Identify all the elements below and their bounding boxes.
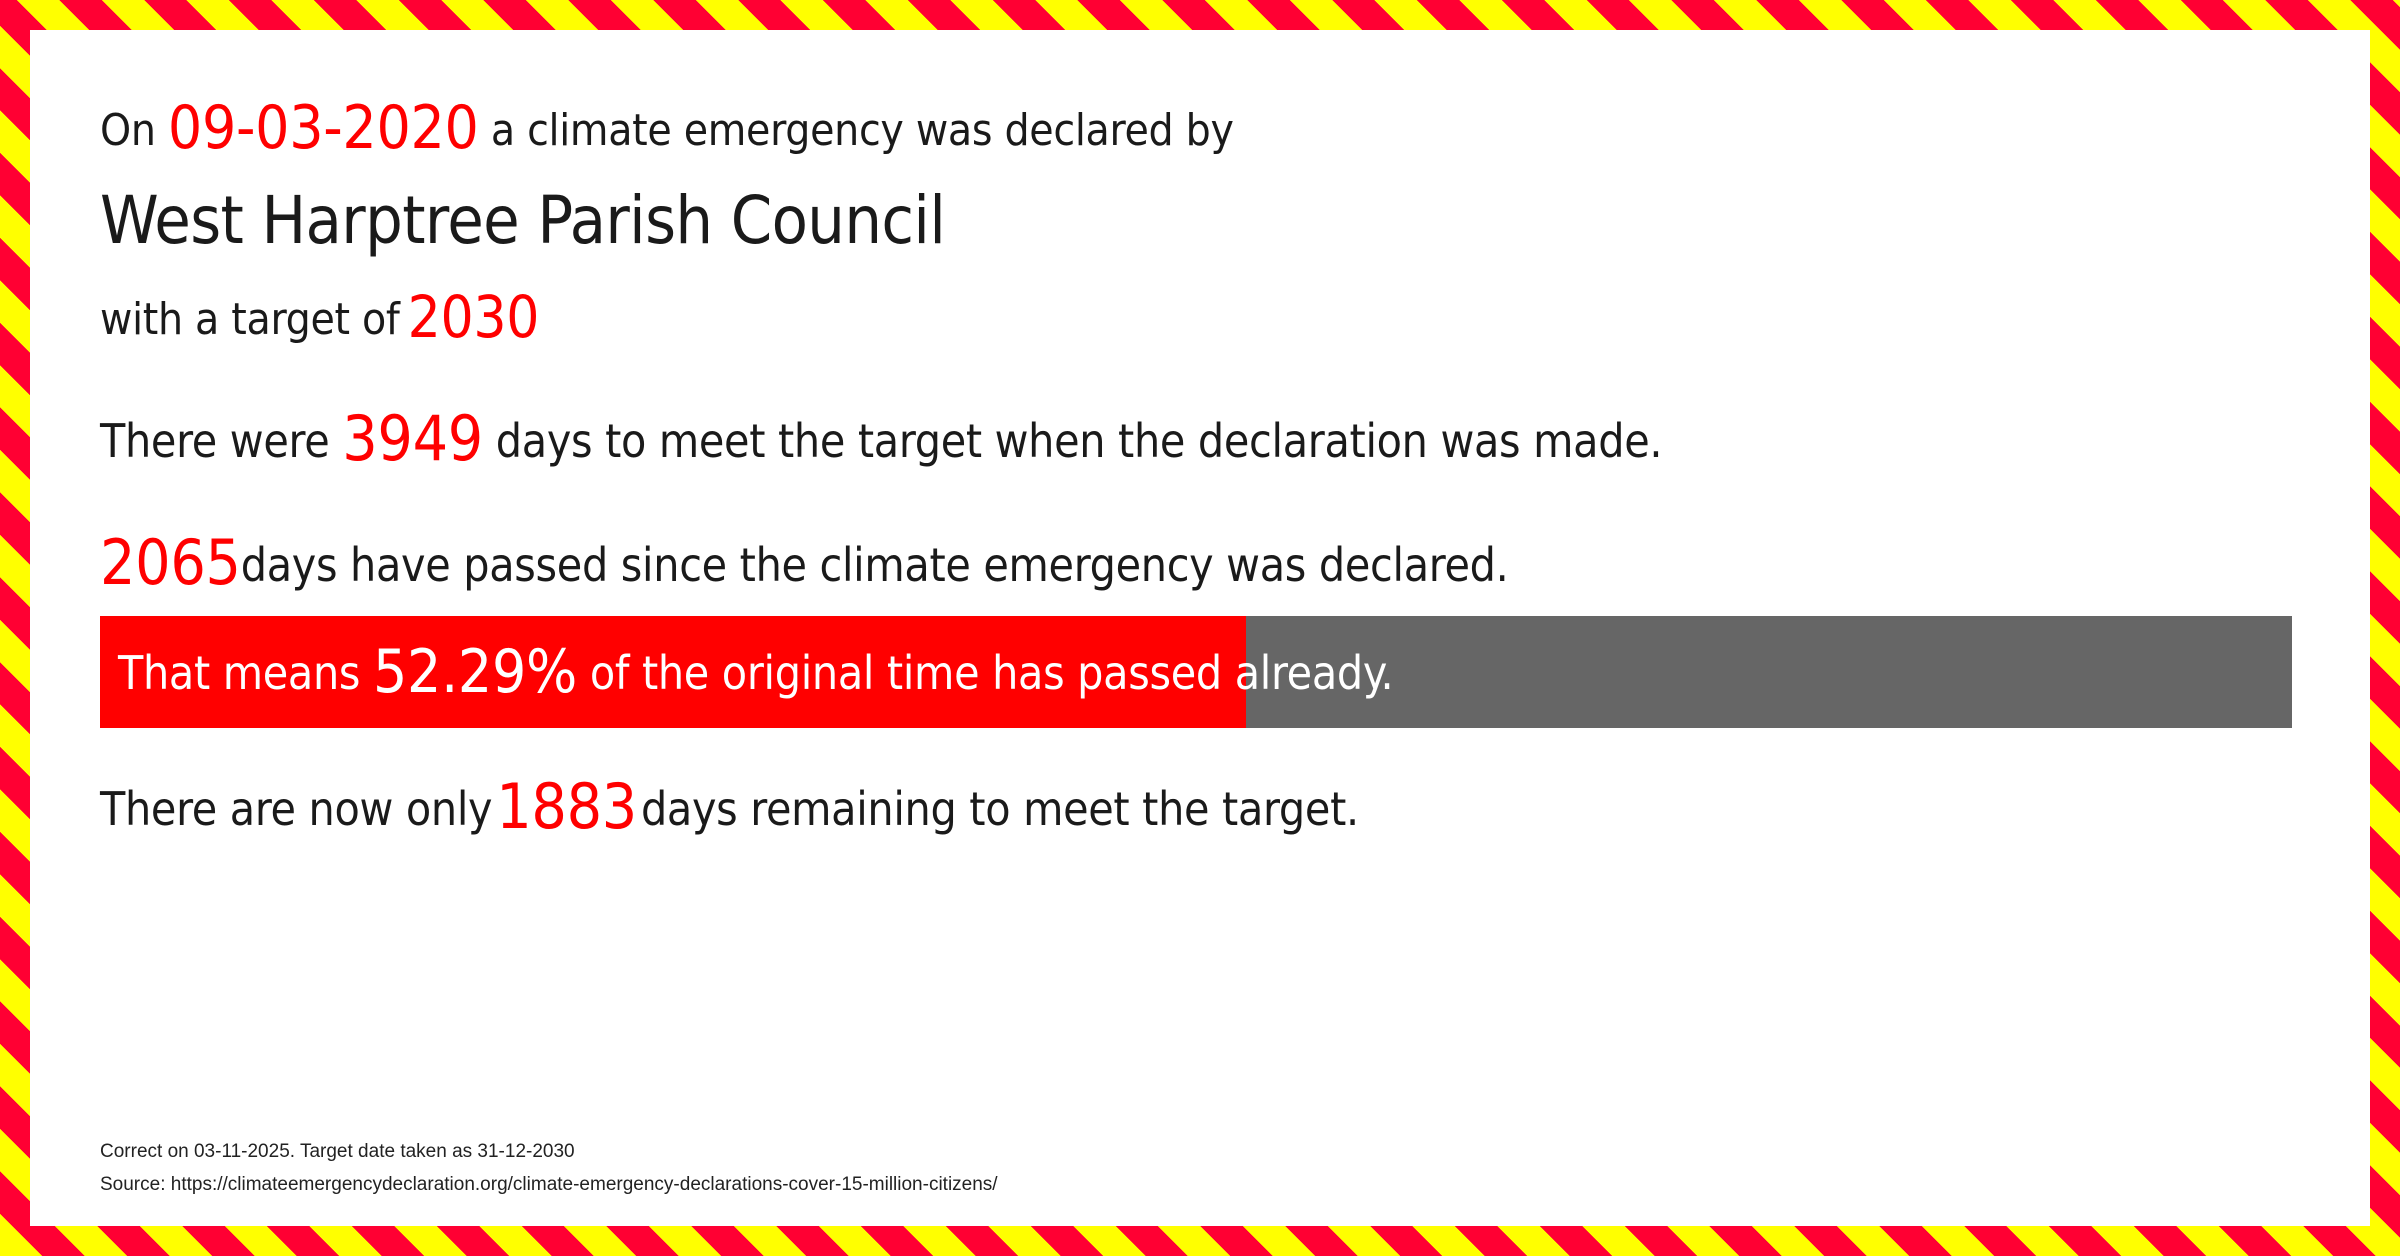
progress-bar-label: That means 52.29% of the original time h…	[100, 616, 1393, 728]
footnote-source: Source: https://climateemergencydeclarat…	[100, 1168, 998, 1201]
declaration-date: 09-03-2020	[168, 93, 479, 163]
time-elapsed-progress-bar: That means 52.29% of the original time h…	[100, 616, 2292, 728]
target-label: with a target of	[100, 294, 400, 345]
days-remaining-suffix: days remaining to meet the target.	[641, 782, 1359, 836]
declaration-headline: On 09-03-2020 a climate emergency was de…	[100, 98, 2330, 158]
declaration-suffix: a climate emergency was declared by	[479, 105, 1234, 156]
declaration-prefix: On	[100, 105, 168, 156]
target-line: with a target of2030	[100, 288, 2330, 346]
footnotes: Correct on 03-11-2025. Target date taken…	[100, 1135, 998, 1202]
days-available-prefix: There were	[100, 414, 342, 468]
progress-label-suffix: of the original time has passed already.	[577, 646, 1393, 700]
days-remaining-prefix: There are now only	[100, 782, 492, 836]
days-passed-line: 2065days have passed since the climate e…	[100, 532, 2330, 594]
days-passed-suffix: days have passed since the climate emerg…	[241, 538, 1509, 592]
climate-emergency-poster: On 09-03-2020 a climate emergency was de…	[0, 0, 2400, 1256]
progress-label-prefix: That means	[118, 646, 373, 700]
days-available-suffix: days to meet the target when the declara…	[483, 414, 1662, 468]
poster-inner-card: On 09-03-2020 a climate emergency was de…	[30, 30, 2370, 1226]
progress-percent-value: 52.29%	[373, 637, 577, 707]
days-remaining-line: There are now only1883days remaining to …	[100, 776, 2330, 838]
days-available-line: There were 3949 days to meet the target …	[100, 408, 2330, 470]
days-remaining-value: 1883	[492, 770, 641, 843]
days-available-value: 3949	[342, 402, 483, 475]
target-year: 2030	[400, 283, 540, 351]
poster-content: On 09-03-2020 a climate emergency was de…	[100, 60, 2330, 1226]
footnote-correct-on: Correct on 03-11-2025. Target date taken…	[100, 1135, 998, 1168]
days-passed-value: 2065	[100, 526, 241, 599]
declaring-authority-name: West Harptree Parish Council	[100, 188, 2330, 254]
